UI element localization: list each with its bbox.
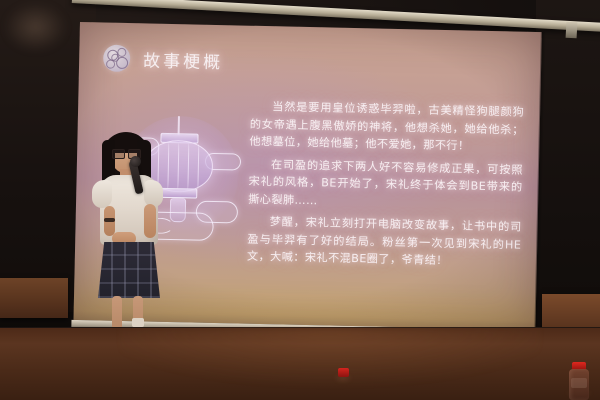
plaid-skirt: [98, 242, 160, 298]
lantern-rib: [187, 143, 189, 189]
bottle-cap-body: [338, 368, 349, 377]
knee-bandage: [132, 318, 144, 327]
slide-paragraph-3: 梦醒，宋礼立刻打开电脑改变故事，让书中的司盈与毕羿有了好的结局。粉丝第一次见到宋…: [247, 213, 522, 271]
red-bottle-cap: [338, 368, 349, 377]
slide-paragraph-2: 在司盈的追求下两人好不容易修成正果，可按照宋礼的风格，BE开始了，宋礼终于体会到…: [248, 155, 523, 213]
arm-right: [144, 204, 156, 238]
sleeve-right: [144, 180, 163, 207]
wall-right-panel: [536, 0, 600, 330]
slide-title-text: 故事梗概: [143, 46, 224, 73]
slide-body-text: 当然是要用皇位诱惑毕羿啦，古美精怪狗腿颜狗的女帝遇上腹黑傲娇的神将，他想杀她，她…: [247, 98, 525, 276]
wristband: [104, 218, 115, 222]
wall-light-sheen: [6, 4, 80, 62]
floral-medallion-icon: [103, 45, 131, 73]
bottle-label: [571, 378, 587, 388]
wood-panel-left: [0, 278, 68, 318]
medallion-swirl-3: [111, 54, 119, 62]
cap-reflection: [330, 376, 356, 392]
water-bottle: [568, 362, 590, 400]
auditorium-floor: [0, 328, 600, 400]
slide-heading: 故事梗概: [103, 45, 224, 75]
sleeve-left: [92, 180, 112, 208]
screen-rail-end-cap: [566, 22, 578, 39]
lantern-rib: [197, 144, 199, 190]
presentation-photo: 故事梗概 当然是要用皇位诱惑毕羿啦，古美精怪狗腿颜狗的女帝遇上腹黑: [0, 0, 600, 400]
slide-paragraph-1: 当然是要用皇位诱惑毕羿啦，古美精怪狗腿颜狗的女帝遇上腹黑傲娇的神将，他想杀她，她…: [249, 98, 524, 156]
